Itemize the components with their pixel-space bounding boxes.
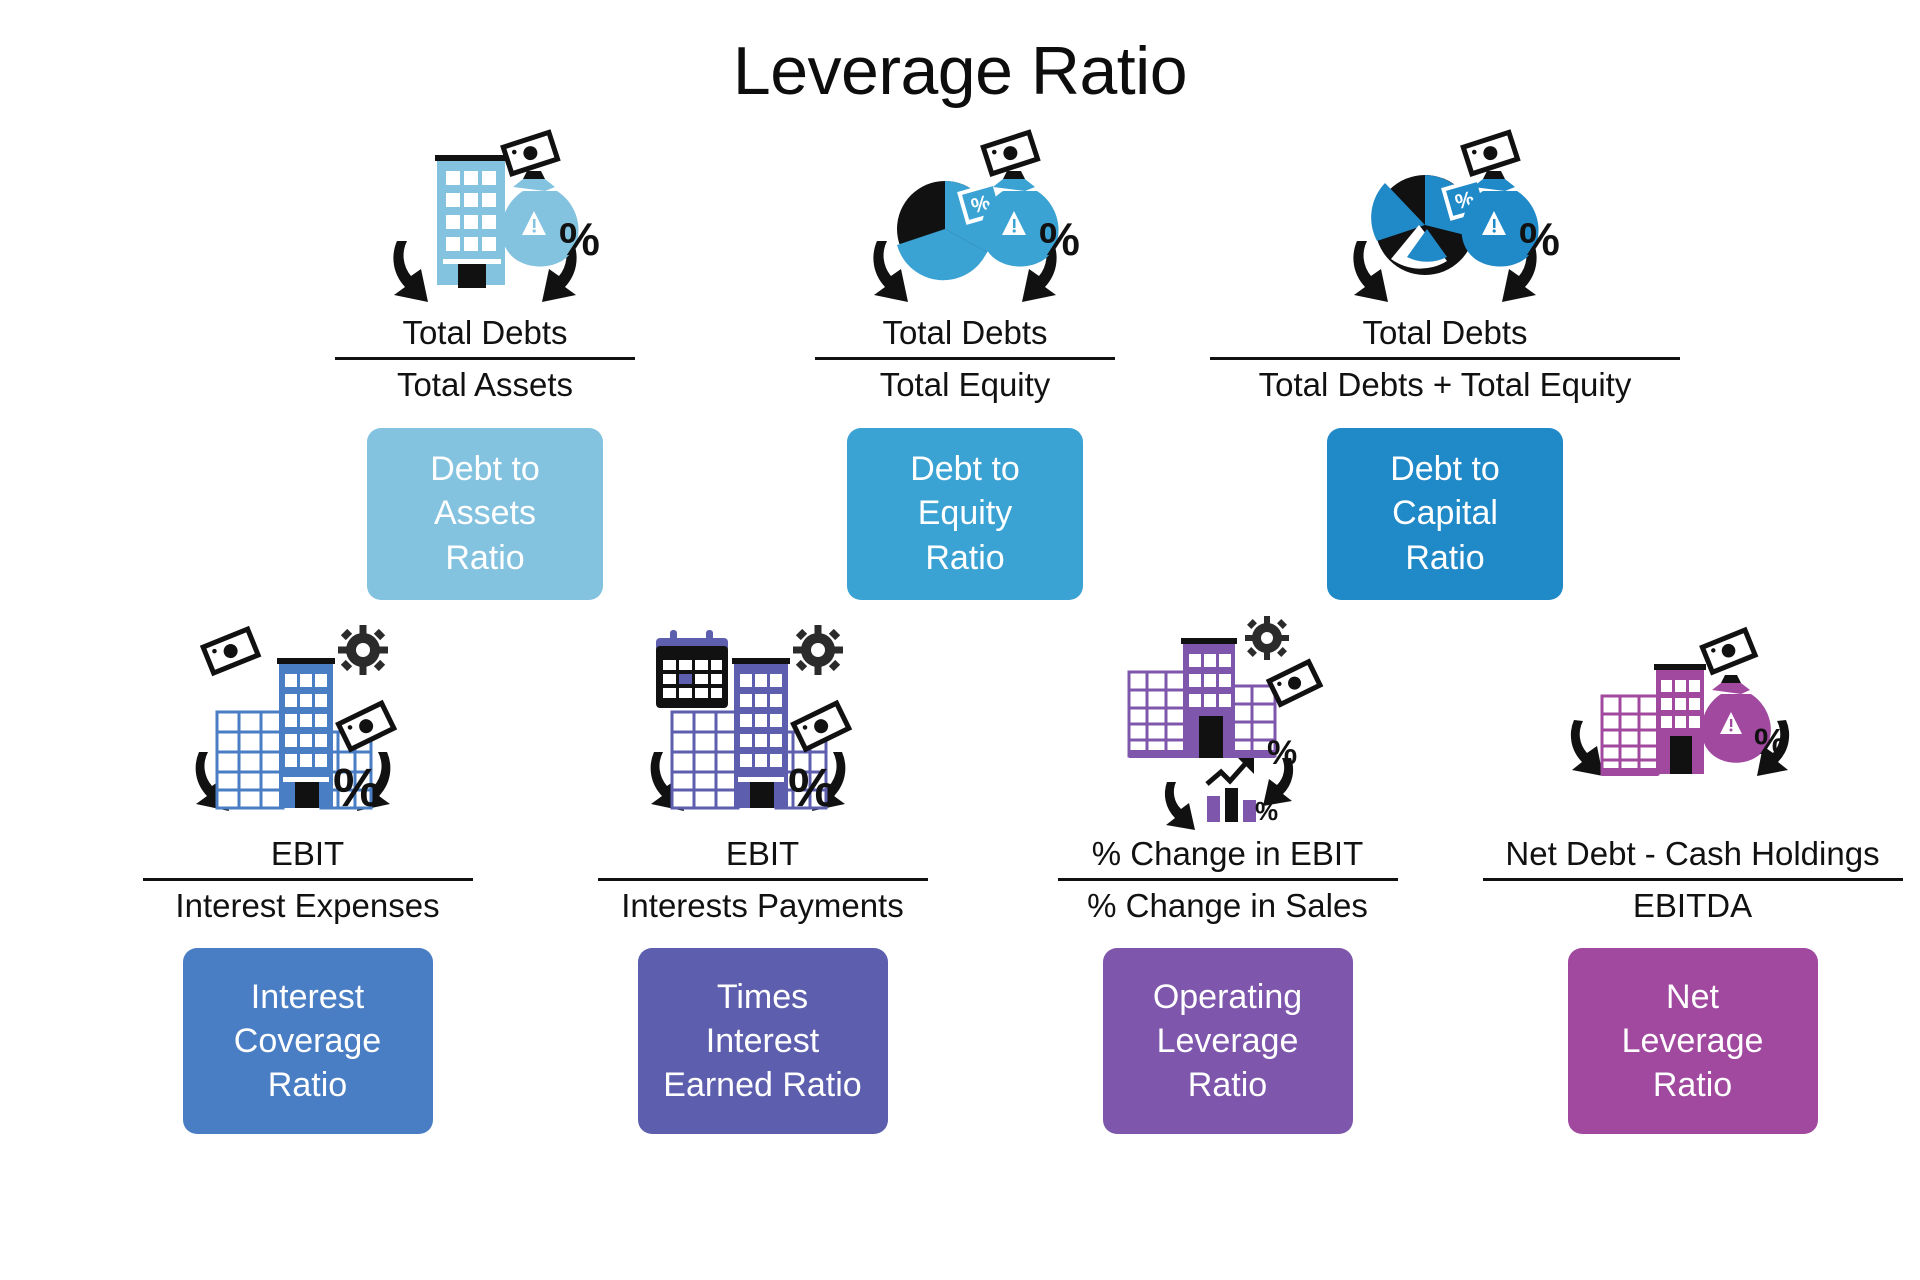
fraction-bar xyxy=(1210,357,1680,360)
buildings-gear-growthchart-percent-icon: % % xyxy=(1095,624,1360,829)
icon-buildings-moneybag-banknote-percent: % xyxy=(1465,614,1920,829)
svg-text:%: % xyxy=(559,213,600,265)
icon-building-moneybag-percent: % xyxy=(240,128,730,308)
formula-numerator: Total Debts xyxy=(1362,312,1527,353)
infographic-page: Leverage Ratio xyxy=(0,0,1920,1280)
formula-denominator: Interest Expenses xyxy=(175,885,439,926)
icon-buildings-banknotes-gear-percent: % xyxy=(80,614,535,829)
fraction-bar xyxy=(815,357,1115,360)
icon-buildings-gear-growthchart-percent: % % xyxy=(1000,614,1455,829)
buildings-moneybag-banknote-percent-icon: % xyxy=(1560,624,1825,829)
formula-denominator: Interests Payments xyxy=(621,885,903,926)
ratio-name-label: Debt to Capital Ratio xyxy=(1390,447,1500,580)
formula-debt-to-capital: Total Debts Total Debts + Total Equity xyxy=(1210,312,1680,406)
buildings-banknotes-gear-percent-icon: % xyxy=(175,624,440,829)
formula-numerator: Net Debt - Cash Holdings xyxy=(1505,833,1879,874)
ratio-card-debt-to-assets: % Total Debts Total Assets Debt to Asset… xyxy=(240,128,730,600)
ratio-card-debt-to-capital: % % Total Debts xyxy=(1200,128,1690,600)
formula-denominator: Total Assets xyxy=(397,364,573,405)
ratio-row-top: % Total Debts Total Assets Debt to Asset… xyxy=(0,128,1920,600)
ratio-name-card[interactable]: Operating Leverage Ratio xyxy=(1103,948,1353,1134)
calendar-buildings-gear-percent-icon: % xyxy=(630,624,895,829)
icon-piechart-split-moneybag-percent: % % xyxy=(1200,128,1690,308)
fraction-bar xyxy=(335,357,635,360)
ratio-card-times-interest-earned: % EBIT Interests Payments Times Interest… xyxy=(535,614,990,1135)
fraction-bar xyxy=(143,878,473,881)
ratio-name-label: Interest Coverage Ratio xyxy=(234,975,381,1108)
formula-numerator: EBIT xyxy=(271,833,344,874)
formula-numerator: Total Debts xyxy=(402,312,567,353)
ratio-name-label: Net Leverage Ratio xyxy=(1622,975,1764,1108)
ratio-card-operating-leverage: % % % Change in EBIT % Change in Sales xyxy=(1000,614,1455,1135)
formula-times-interest-earned: EBIT Interests Payments xyxy=(598,833,928,927)
formula-debt-to-assets: Total Debts Total Assets xyxy=(335,312,635,406)
building-moneybag-percent-icon: % xyxy=(355,133,615,308)
formula-denominator: Total Equity xyxy=(880,364,1051,405)
piechart-moneybag-percent-icon: % % xyxy=(835,133,1095,308)
ratio-card-net-leverage: % Net Debt - Cash Holdings EBITDA Net Le… xyxy=(1465,614,1920,1135)
page-title: Leverage Ratio xyxy=(0,0,1920,110)
fraction-bar xyxy=(1058,878,1398,881)
piechart-split-moneybag-percent-icon: % % xyxy=(1315,133,1575,308)
formula-numerator: Total Debts xyxy=(882,312,1047,353)
ratio-name-card[interactable]: Debt to Capital Ratio xyxy=(1327,428,1563,600)
svg-text:%: % xyxy=(788,758,836,818)
ratio-name-card[interactable]: Debt to Equity Ratio xyxy=(847,428,1083,600)
svg-text:%: % xyxy=(1255,796,1278,826)
icon-piechart-moneybag-percent: % % xyxy=(720,128,1210,308)
ratio-name-card[interactable]: Net Leverage Ratio xyxy=(1568,948,1818,1134)
formula-interest-coverage: EBIT Interest Expenses xyxy=(143,833,473,927)
ratio-name-card[interactable]: Debt to Assets Ratio xyxy=(367,428,603,600)
svg-text:%: % xyxy=(1519,213,1560,265)
ratio-name-label: Debt to Assets Ratio xyxy=(430,447,540,580)
formula-operating-leverage: % Change in EBIT % Change in Sales xyxy=(1058,833,1398,927)
svg-text:%: % xyxy=(1754,721,1786,762)
ratio-card-interest-coverage: % EBIT Interest Expenses Interest Covera… xyxy=(80,614,535,1135)
formula-numerator: % Change in EBIT xyxy=(1092,833,1363,874)
formula-numerator: EBIT xyxy=(726,833,799,874)
ratio-name-card[interactable]: Times Interest Earned Ratio xyxy=(638,948,888,1134)
ratio-name-card[interactable]: Interest Coverage Ratio xyxy=(183,948,433,1134)
calendar-icon xyxy=(656,630,728,708)
ratio-name-label: Times Interest Earned Ratio xyxy=(663,975,861,1108)
ratio-row-bottom: % EBIT Interest Expenses Interest Covera… xyxy=(0,614,1920,1135)
svg-text:%: % xyxy=(333,758,381,818)
fraction-bar xyxy=(1483,878,1903,881)
svg-text:%: % xyxy=(1039,213,1080,265)
ratio-card-debt-to-equity: % % xyxy=(720,128,1210,600)
formula-denominator: Total Debts + Total Equity xyxy=(1259,364,1632,405)
fraction-bar xyxy=(598,878,928,881)
formula-denominator: EBITDA xyxy=(1633,885,1752,926)
formula-debt-to-equity: Total Debts Total Equity xyxy=(815,312,1115,406)
formula-denominator: % Change in Sales xyxy=(1087,885,1368,926)
ratio-name-label: Operating Leverage Ratio xyxy=(1153,975,1302,1108)
icon-calendar-buildings-gear-percent: % xyxy=(535,614,990,829)
formula-net-leverage: Net Debt - Cash Holdings EBITDA xyxy=(1483,833,1903,927)
ratio-name-label: Debt to Equity Ratio xyxy=(910,447,1020,580)
